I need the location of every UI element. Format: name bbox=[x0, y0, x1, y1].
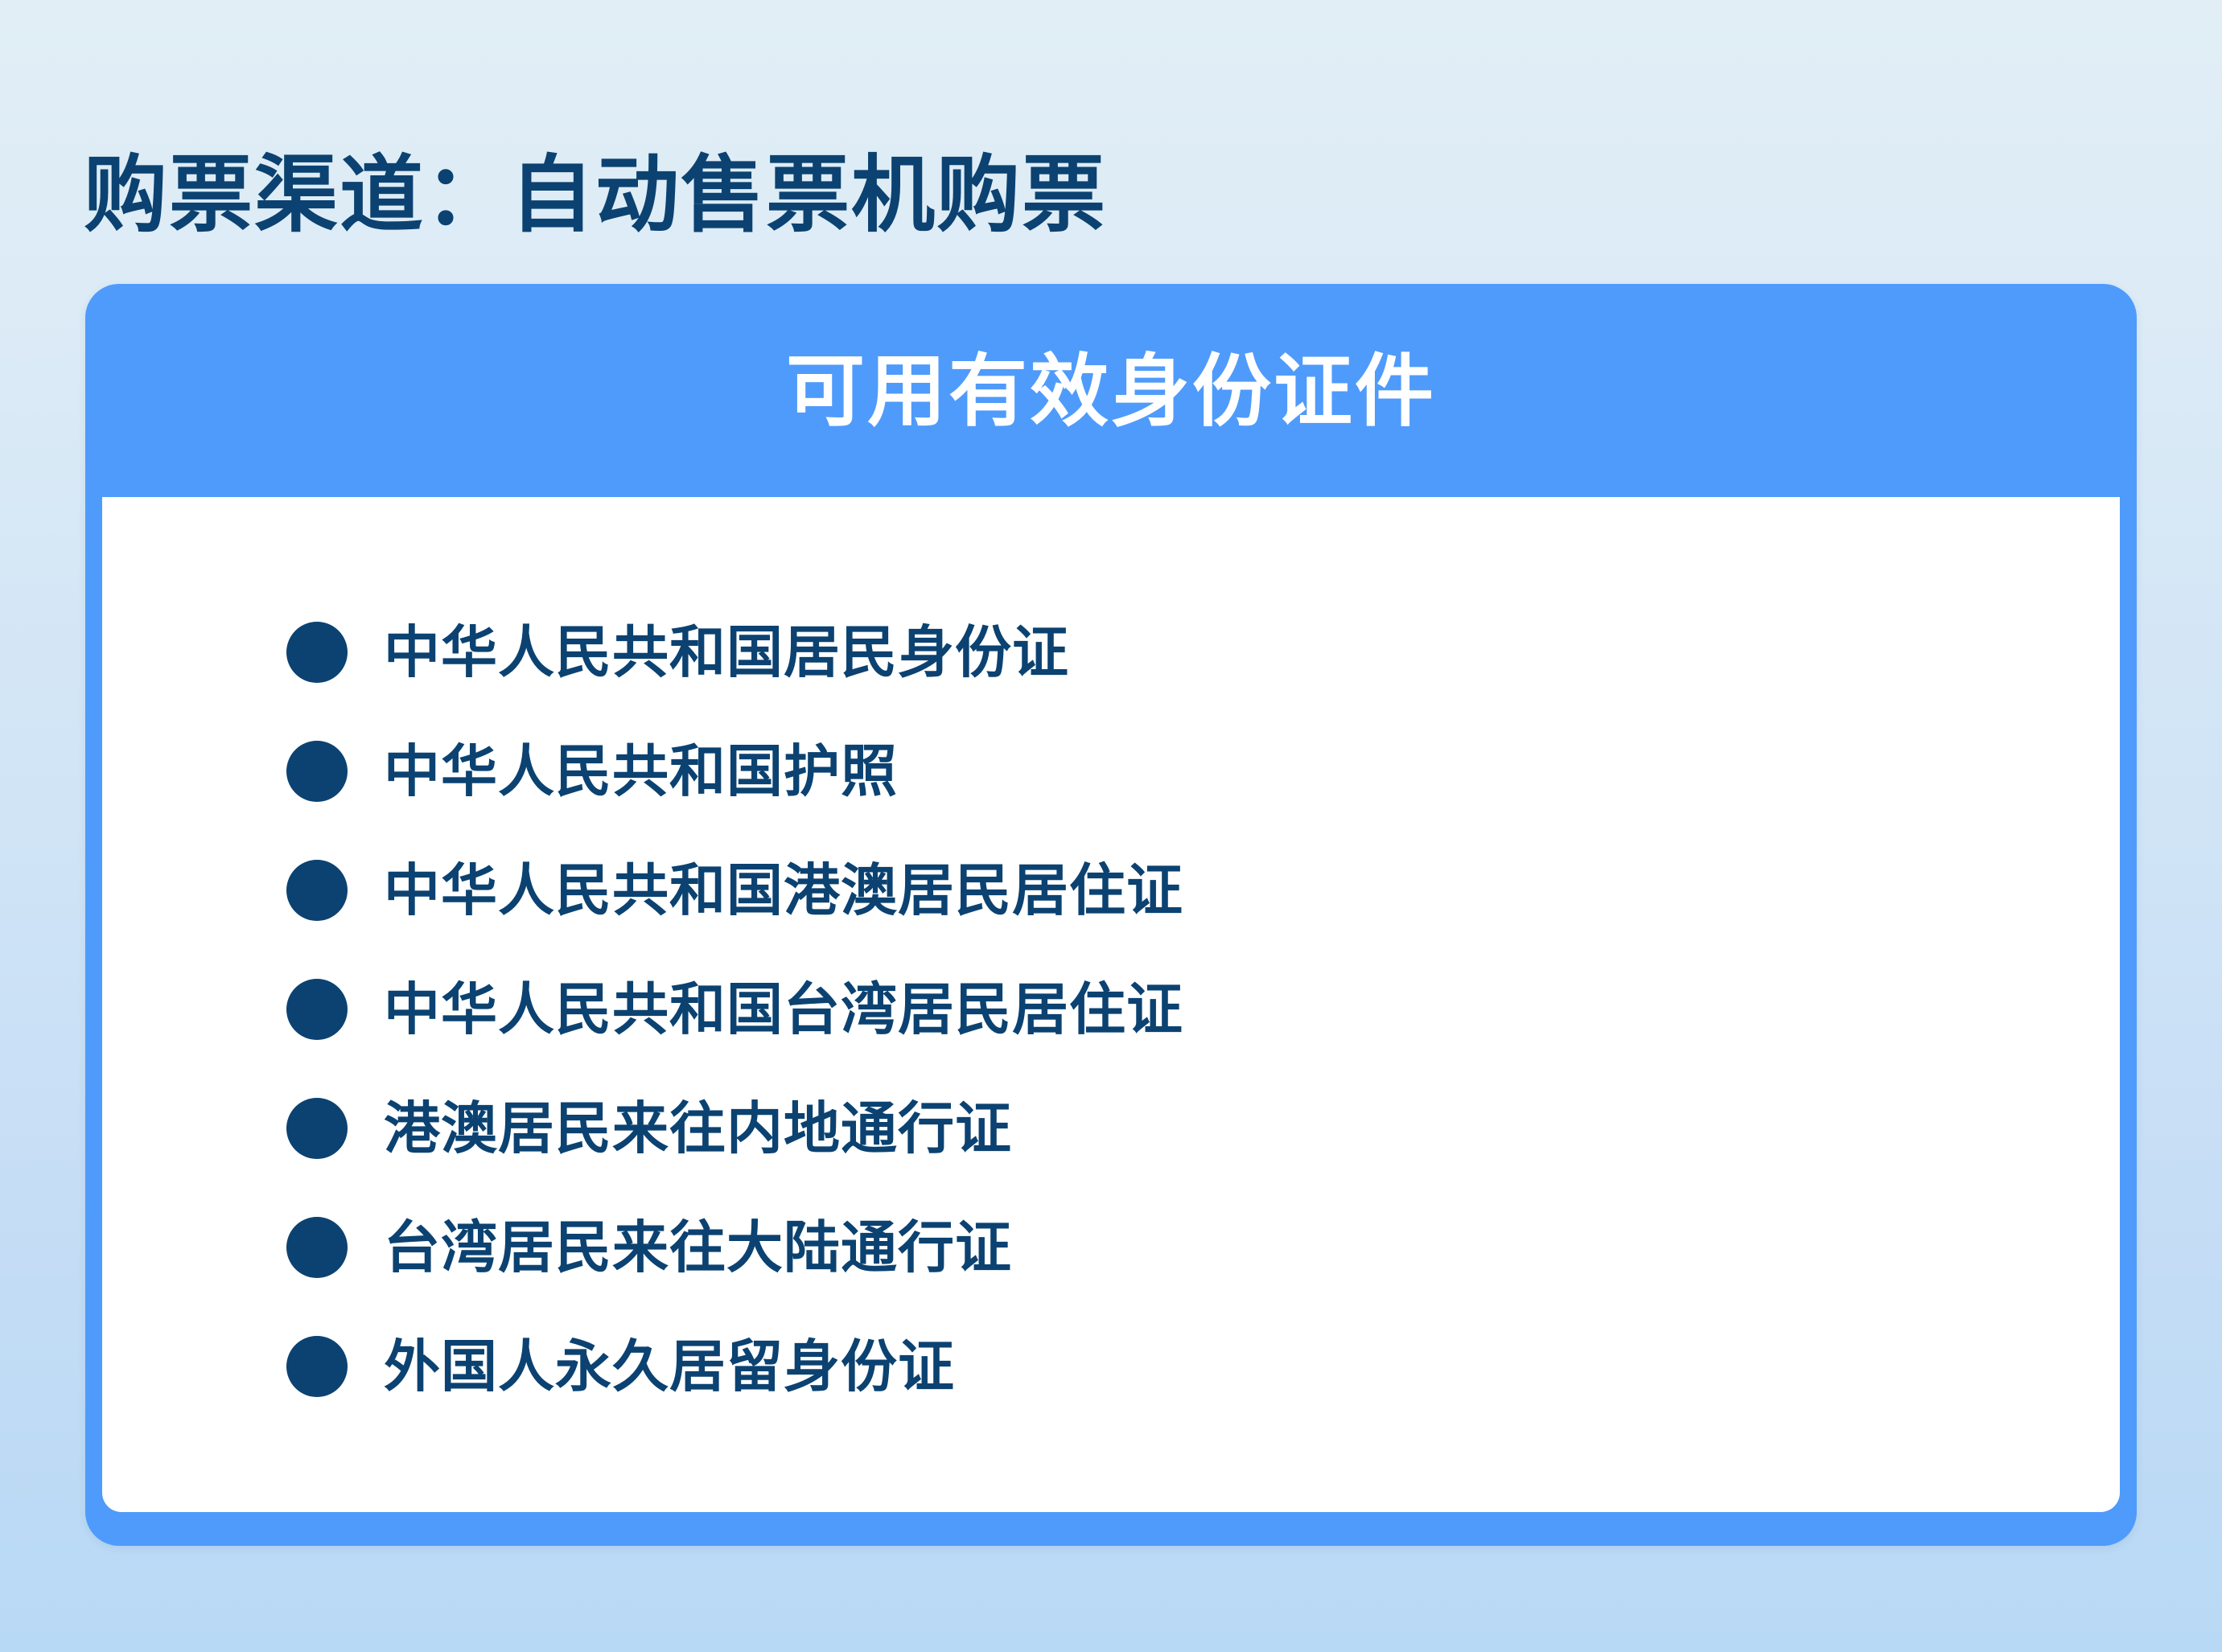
filled-circle-bullet-icon bbox=[286, 1217, 348, 1278]
card-header-title: 可用有效身份证件 bbox=[786, 351, 1436, 430]
list-item: 中华人民共和国居民身份证 bbox=[286, 593, 1183, 712]
card-header: 可用有效身份证件 bbox=[85, 284, 2137, 497]
list-item: 中华人民共和国台湾居民居住证 bbox=[286, 950, 1183, 1069]
page-title: 购票渠道：自动售票机购票 bbox=[84, 146, 1107, 245]
valid-id-documents-list: 中华人民共和国居民身份证 中华人民共和国护照 中华人民共和国港澳居民居住证 中华… bbox=[286, 593, 1183, 1426]
list-item-label: 中华人民共和国居民身份证 bbox=[384, 624, 1069, 680]
list-item: 港澳居民来往内地通行证 bbox=[286, 1069, 1183, 1188]
valid-id-documents-card: 可用有效身份证件 中华人民共和国居民身份证 中华人民共和国护照 中华人民共和国港… bbox=[85, 284, 2137, 1546]
filled-circle-bullet-icon bbox=[286, 622, 348, 683]
filled-circle-bullet-icon bbox=[286, 979, 348, 1040]
list-item-label: 中华人民共和国港澳居民居住证 bbox=[384, 862, 1183, 918]
filled-circle-bullet-icon bbox=[286, 1336, 348, 1397]
list-item-label: 港澳居民来往内地通行证 bbox=[384, 1100, 1012, 1157]
list-item: 台湾居民来往大陆通行证 bbox=[286, 1188, 1183, 1307]
list-item: 中华人民共和国护照 bbox=[286, 712, 1183, 831]
filled-circle-bullet-icon bbox=[286, 860, 348, 921]
list-item-label: 中华人民共和国护照 bbox=[384, 743, 898, 799]
list-item: 中华人民共和国港澳居民居住证 bbox=[286, 831, 1183, 950]
filled-circle-bullet-icon bbox=[286, 1098, 348, 1159]
list-item-label: 台湾居民来往大陆通行证 bbox=[384, 1219, 1012, 1276]
filled-circle-bullet-icon bbox=[286, 741, 348, 802]
card-body: 中华人民共和国居民身份证 中华人民共和国护照 中华人民共和国港澳居民居住证 中华… bbox=[102, 497, 2120, 1512]
list-item: 外国人永久居留身份证 bbox=[286, 1307, 1183, 1426]
list-item-label: 外国人永久居留身份证 bbox=[384, 1338, 955, 1395]
list-item-label: 中华人民共和国台湾居民居住证 bbox=[384, 981, 1183, 1038]
slide-root: 购票渠道：自动售票机购票 可用有效身份证件 中华人民共和国居民身份证 中华人民共… bbox=[0, 0, 2222, 1652]
